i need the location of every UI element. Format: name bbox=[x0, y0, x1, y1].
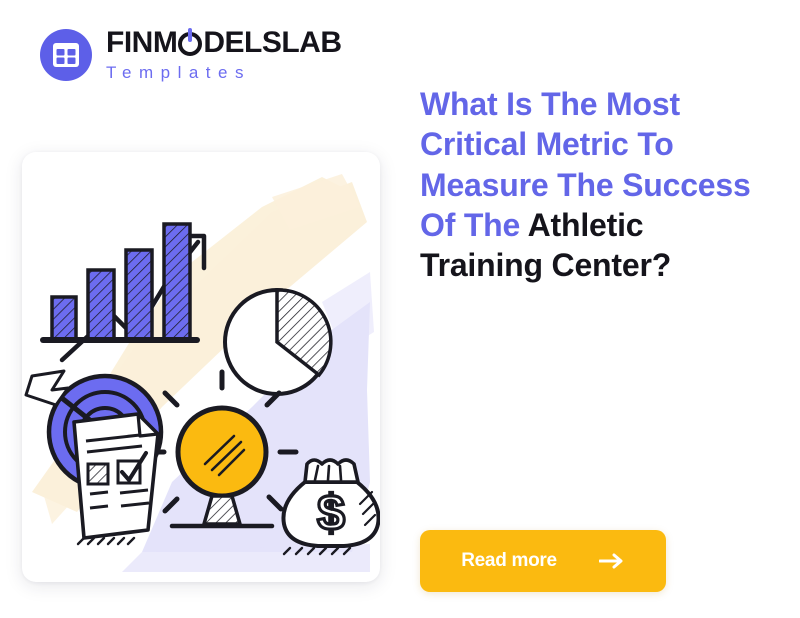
page-title: What Is The Most Critical Metric To Meas… bbox=[420, 84, 770, 286]
grid-window-icon bbox=[52, 42, 80, 68]
pie-chart bbox=[225, 290, 331, 394]
wordmark-part-1: FINM bbox=[106, 28, 177, 58]
business-metrics-illustration: $ bbox=[22, 152, 380, 582]
read-more-button[interactable]: Read more bbox=[420, 530, 666, 592]
promo-banner: FINM DELSLAB Templates bbox=[0, 0, 800, 618]
logo-tagline: Templates bbox=[106, 64, 342, 81]
read-more-label: Read more bbox=[461, 550, 557, 572]
checklist-document bbox=[74, 414, 158, 544]
logo-wordmark-group: FINM DELSLAB Templates bbox=[106, 28, 342, 81]
logo-badge bbox=[40, 29, 92, 81]
logo-wordmark: FINM DELSLAB bbox=[106, 28, 342, 58]
dollar-sign: $ bbox=[317, 485, 345, 541]
brand-logo[interactable]: FINM DELSLAB Templates bbox=[40, 28, 342, 81]
arrow-right-icon bbox=[599, 553, 625, 569]
wordmark-part-2: DELSLAB bbox=[203, 28, 341, 58]
power-o-icon bbox=[178, 32, 202, 56]
